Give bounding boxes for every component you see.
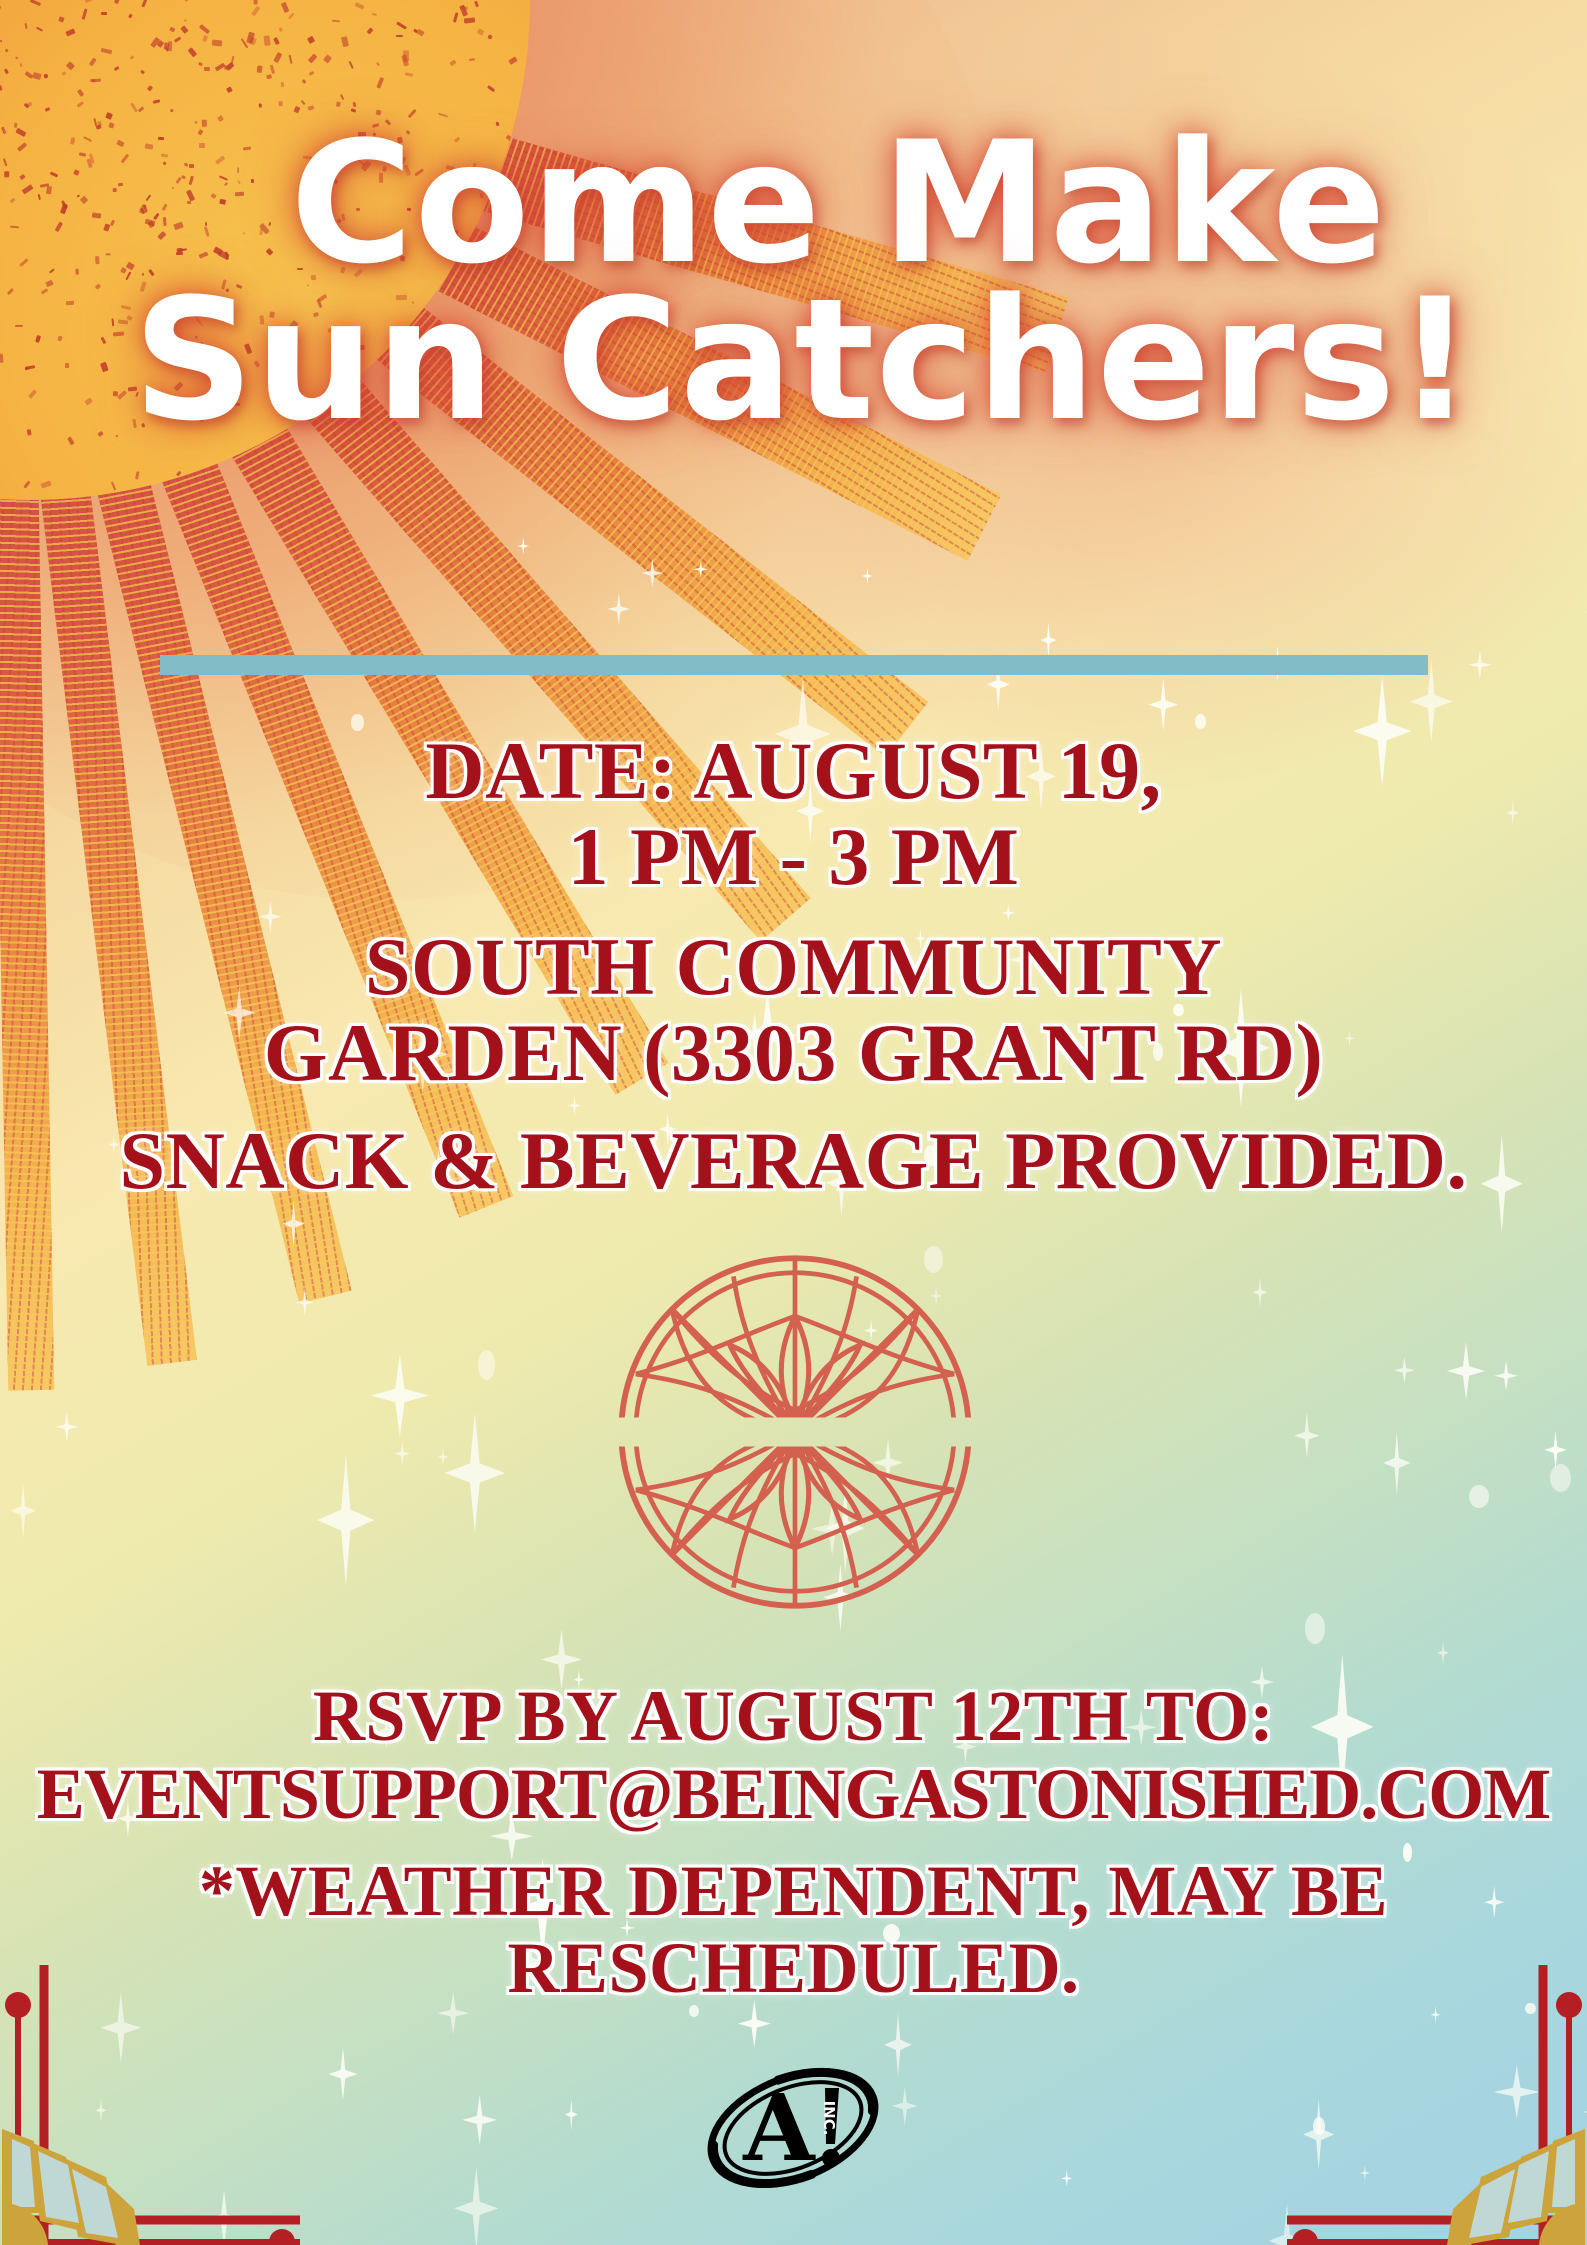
rsvp-block: RSVP BY AUGUST 12TH TO: EVENTSUPPORT@BEI… bbox=[0, 1680, 1587, 1830]
event-address-line: GARDEN (3303 GRANT RD) bbox=[0, 1012, 1587, 1094]
corner-flourish-icon-left bbox=[0, 1945, 300, 2245]
poster-canvas: Come Make Sun Catchers! DATE: AUGUST 19,… bbox=[0, 0, 1587, 2245]
logo-letter: A bbox=[742, 2074, 816, 2182]
event-amenities-line: SNACK & BEVERAGE PROVIDED. bbox=[0, 1120, 1587, 1202]
rsvp-email-line[interactable]: EVENTSUPPORT@BEINGASTONISHED.COM bbox=[0, 1758, 1587, 1830]
event-time-line: 1 PM - 3 PM bbox=[0, 816, 1587, 898]
title-line-2: Sun Catchers! bbox=[0, 275, 1587, 446]
weather-note-line-1: *WEATHER DEPENDENT, MAY BE bbox=[0, 1855, 1587, 1928]
organization-logo: A INC. bbox=[693, 2048, 893, 2208]
corner-flourish-icon-right bbox=[1287, 1945, 1587, 2245]
logo-suffix: INC. bbox=[820, 2101, 838, 2136]
divider-rule bbox=[160, 655, 1428, 675]
poster-title: Come Make Sun Catchers! bbox=[0, 118, 1587, 447]
event-venue-line: SOUTH COMMUNITY bbox=[0, 926, 1587, 1008]
stained-glass-suncatcher-icon bbox=[614, 1251, 976, 1613]
rsvp-deadline-line: RSVP BY AUGUST 12TH TO: bbox=[0, 1680, 1587, 1752]
event-date-line: DATE: AUGUST 19, bbox=[0, 730, 1587, 812]
event-details-block: DATE: AUGUST 19, 1 PM - 3 PM SOUTH COMMU… bbox=[0, 730, 1587, 1202]
